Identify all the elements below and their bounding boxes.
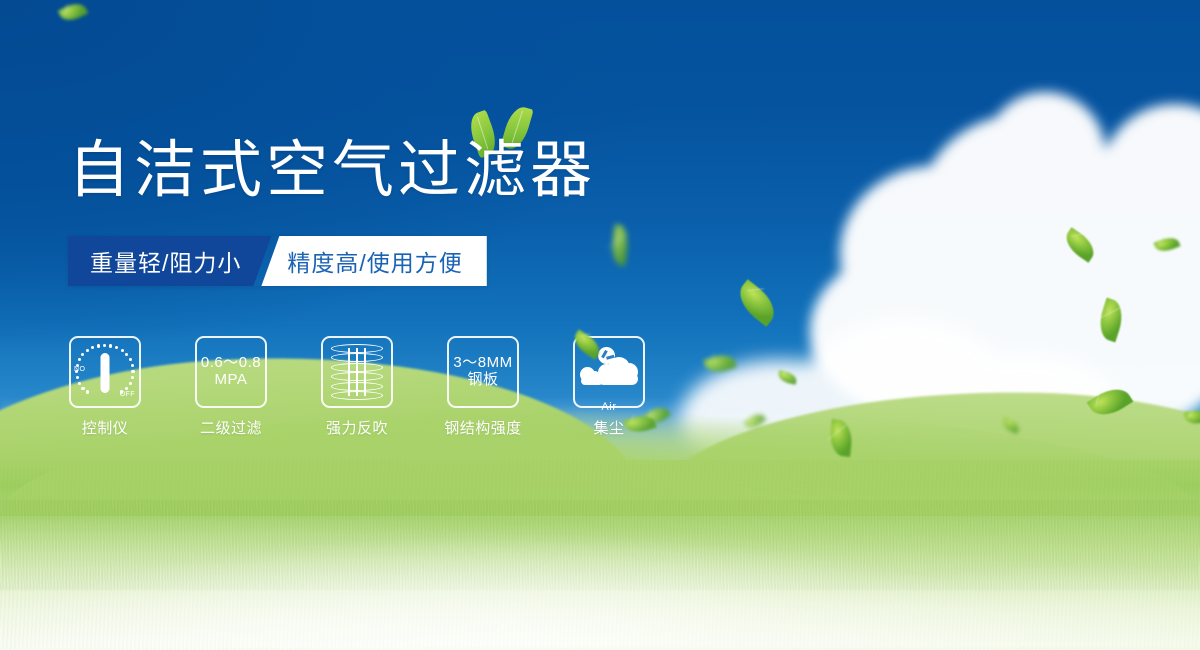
dial-label-off: OFF [120, 391, 135, 398]
feature-icon-row: NO OFF 控制仪 0.6～0.8 MPA 二级过滤 [68, 336, 646, 438]
feature-label: 集尘 [593, 417, 624, 438]
dial-label-no: NO [74, 366, 85, 373]
feature-icon-box [321, 336, 393, 408]
steel-plate-text-icon: 3～8MM 钢板 [453, 355, 512, 389]
page-title: 自洁式空气过滤器 [68, 140, 596, 202]
feature-item-steel[interactable]: 3～8MM 钢板 钢结构强度 [446, 336, 520, 438]
control-dial-icon: NO OFF [75, 342, 135, 402]
subtitle-banner: 重量轻/阻力小 精度高/使用方便 [68, 236, 487, 286]
air-label: Air [578, 401, 640, 413]
coil-filter-icon [331, 344, 383, 400]
product-hero-banner: 自洁式空气过滤器 重量轻/阻力小 精度高/使用方便 [0, 0, 1200, 650]
feature-label: 强力反吹 [326, 417, 388, 438]
steel-material: 钢板 [453, 372, 512, 389]
subtitle-left-segment: 重量轻/阻力小 [68, 236, 271, 286]
grass-light-path [0, 500, 1200, 650]
feature-item-control[interactable]: NO OFF 控制仪 [68, 336, 142, 438]
feature-item-pressure[interactable]: 0.6～0.8 MPA 二级过滤 [194, 336, 268, 438]
feature-label: 控制仪 [82, 417, 129, 438]
feature-item-backblow[interactable]: 强力反吹 [320, 336, 394, 438]
feature-icon-box: 0.6～0.8 MPA [195, 336, 267, 408]
pressure-value: 0.6～0.8 [201, 355, 261, 372]
pressure-text-icon: 0.6～0.8 MPA [201, 355, 261, 389]
feature-label: 二级过滤 [200, 417, 262, 438]
subtitle-right-segment: 精度高/使用方便 [261, 236, 486, 286]
dial-needle-icon [101, 353, 110, 393]
feature-label: 钢结构强度 [444, 417, 522, 438]
pressure-unit: MPA [201, 372, 261, 389]
feature-icon-box: NO OFF [69, 336, 141, 408]
feature-icon-box: 3～8MM 钢板 [447, 336, 519, 408]
steel-thickness: 3～8MM [453, 355, 512, 372]
